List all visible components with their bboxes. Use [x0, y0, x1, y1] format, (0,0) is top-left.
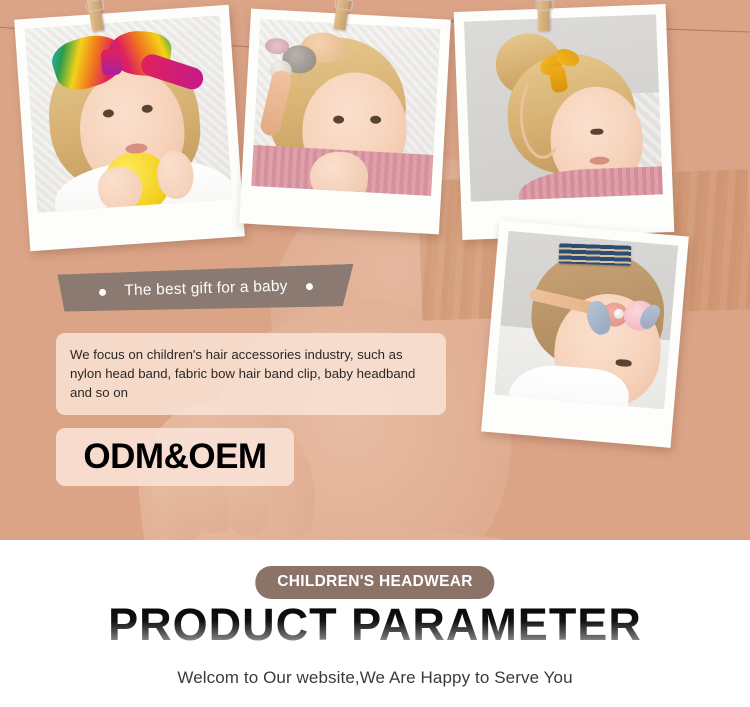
photo-card-rainbow-bow[interactable]	[14, 5, 245, 251]
odm-oem-badge: ODM&OEM	[56, 428, 294, 486]
category-pill: CHILDREN'S HEADWEAR	[255, 566, 494, 599]
photo-card-yellow-bow[interactable]	[454, 4, 675, 240]
ribbon-label: The best gift for a baby	[124, 278, 288, 301]
clothespin-icon	[538, 0, 550, 31]
product-parameter-header: CHILDREN'S HEADWEAR PRODUCT PARAMETER We…	[0, 540, 750, 707]
photo-card-rose-headband[interactable]	[481, 220, 689, 448]
bullet-dot-icon	[99, 288, 106, 295]
section-subtitle: Welcom to Our website,We Are Happy to Se…	[0, 668, 750, 688]
photo-card-flower-headband[interactable]	[239, 9, 451, 235]
company-description-box: We focus on children's hair accessories …	[56, 333, 446, 415]
rainbow-bow-knot	[100, 48, 122, 75]
photo-rainbow-bow	[25, 15, 232, 212]
hero-banner: The best gift for a baby We focus on chi…	[0, 0, 750, 540]
odm-oem-label: ODM&OEM	[83, 437, 266, 477]
eye	[590, 128, 603, 134]
company-description-text: We focus on children's hair accessories …	[70, 347, 415, 400]
photo-rose-headband	[494, 231, 678, 409]
best-gift-ribbon: The best gift for a baby	[57, 264, 354, 314]
navy-striped-hair-clip	[559, 243, 632, 266]
category-pill-label: CHILDREN'S HEADWEAR	[277, 573, 472, 590]
photo-flower-headband	[251, 19, 440, 196]
section-title: PRODUCT PARAMETER	[0, 602, 750, 647]
bullet-dot-icon	[306, 283, 313, 290]
page-root: The best gift for a baby We focus on chi…	[0, 0, 750, 707]
photo-yellow-bow	[464, 14, 663, 201]
